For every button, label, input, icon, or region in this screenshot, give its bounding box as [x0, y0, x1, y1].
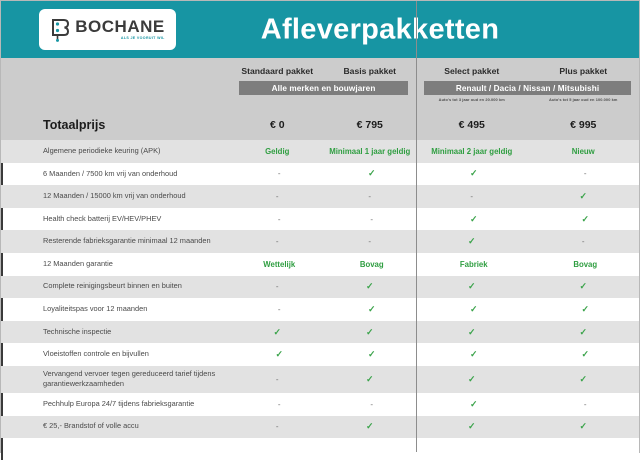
row-values-g-a: -✓	[233, 163, 418, 186]
bochane-logo: BOCHANE ALS JE VOORUIT WIL	[39, 9, 176, 50]
row-cell: -	[528, 237, 640, 246]
package-name-basis: Basis pakket	[324, 66, 417, 76]
package-name-standaard: Standaard pakket	[231, 66, 324, 76]
row-cell: -	[324, 192, 417, 201]
price-plus: € 995	[528, 119, 640, 131]
row-cell: ✓	[530, 304, 640, 315]
group-b-package-names: Select pakket Plus pakket	[416, 66, 639, 76]
row-cell: ✓	[324, 421, 417, 432]
row-values-g-b: ✓-	[418, 393, 640, 416]
row-cell: -	[324, 237, 417, 246]
row-cell: ✓	[418, 399, 530, 410]
row-values-g-b: ✓✓	[416, 416, 639, 439]
row-label: 6 Maanden / 7500 km vrij van onderhoud	[3, 169, 233, 180]
price-select: € 495	[416, 119, 528, 131]
row-cell: Wettelijk	[233, 260, 326, 269]
package-note-plus: Auto's tot 5 jaar oud en 100.000 km	[528, 97, 640, 102]
row-cell: Fabriek	[418, 260, 530, 269]
row-values-g-a: --	[233, 393, 418, 416]
row-values-g-a: --	[233, 208, 418, 231]
row-cell: ✓	[326, 304, 419, 315]
row-label: Vloeistoffen controle en bijvullen	[3, 349, 233, 360]
row-cell: -	[233, 305, 326, 314]
row-values-g-b: ✓-	[416, 230, 639, 253]
row-label: Resterende fabrieksgarantie minimaal 12 …	[1, 236, 231, 247]
row-label: 12 Maanden garantie	[3, 259, 233, 270]
totaalprijs-label: Totaalprijs	[1, 118, 231, 132]
package-note-select: Auto's tot 3 jaar oud en 20.000 km	[416, 97, 528, 102]
table-row: 12 Maanden garantieWettelijkBovagFabriek…	[1, 253, 639, 276]
row-values-g-a: -✓	[231, 416, 416, 439]
row-cell: ✓	[416, 236, 528, 247]
row-values-g-b: FabriekBovag	[418, 253, 640, 276]
row-label: Health check batterij EV/HEV/PHEV	[3, 214, 233, 225]
totaalprijs-row: Totaalprijs € 0 € 795 € 495 € 995	[1, 110, 639, 140]
row-cell: ✓	[326, 349, 419, 360]
table-footer-strip	[1, 438, 639, 460]
table-row: Complete reinigingsbeurt binnen en buite…	[1, 276, 639, 299]
package-name-select: Select pakket	[416, 66, 528, 76]
row-label: Technische inspectie	[1, 327, 231, 338]
row-cell: -	[326, 400, 419, 409]
row-values-g-a: WettelijkBovag	[233, 253, 418, 276]
row-cell: ✓	[416, 374, 528, 385]
row-cell: -	[231, 192, 324, 201]
bochane-mark-icon	[50, 17, 70, 43]
table-row: Health check batterij EV/HEV/PHEV--✓✓	[1, 208, 639, 231]
comparison-table: Algemene periodieke keuring (APK)GeldigM…	[1, 140, 639, 454]
totaalprijs-group-b: € 495 € 995	[416, 119, 639, 131]
row-cell: ✓	[418, 304, 530, 315]
row-values-g-a: --	[231, 185, 416, 208]
table-row: Loyaliteitspas voor 12 maanden-✓✓✓	[1, 298, 639, 321]
row-cell: ✓	[418, 349, 530, 360]
group-b-subnotes: Auto's tot 3 jaar oud en 20.000 km Auto'…	[416, 97, 639, 102]
table-row: € 25,- Brandstof of volle accu-✓✓✓	[1, 416, 639, 439]
table-row: Resterende fabrieksgarantie minimaal 12 …	[1, 230, 639, 253]
row-cell: -	[231, 422, 324, 431]
row-label: € 25,- Brandstof of volle accu	[1, 421, 231, 432]
row-cell: -	[231, 375, 324, 384]
row-values-g-b: -✓	[416, 185, 639, 208]
row-cell: -	[530, 169, 640, 178]
bochane-wordmark: BOCHANE ALS JE VOORUIT WIL	[75, 18, 164, 41]
row-values-g-b: ✓-	[418, 163, 640, 186]
table-row: Algemene periodieke keuring (APK)GeldigM…	[1, 140, 639, 163]
row-values-g-b: ✓✓	[418, 208, 640, 231]
package-name-plus: Plus pakket	[528, 66, 640, 76]
row-cell: -	[231, 282, 324, 291]
row-cell: Bovag	[326, 260, 419, 269]
page-banner: BOCHANE ALS JE VOORUIT WIL Afleverpakket…	[1, 1, 639, 58]
row-values-g-a: ✓✓	[231, 321, 416, 344]
price-basis: € 795	[324, 119, 417, 131]
row-label: Complete reinigingsbeurt binnen en buite…	[1, 281, 231, 292]
row-cell: ✓	[231, 327, 324, 338]
row-label: Pechhulp Europa 24/7 tijdens fabrieksgar…	[3, 399, 233, 410]
row-cell: ✓	[416, 281, 528, 292]
group-a-brandbar: Alle merken en bouwjaren	[239, 81, 408, 95]
row-values-g-b: ✓✓	[418, 298, 640, 321]
afleverpakketten-page: BOCHANE ALS JE VOORUIT WIL Afleverpakket…	[0, 0, 640, 453]
row-cell: ✓	[324, 374, 417, 385]
row-cell: Minimaal 2 jaar geldig	[416, 147, 528, 156]
group-divider	[416, 1, 417, 452]
row-values-g-a: --	[231, 230, 416, 253]
group-b-brandbar: Renault / Dacia / Nissan / Mitsubishi	[424, 81, 631, 95]
row-cell: ✓	[324, 281, 417, 292]
row-cell: ✓	[326, 168, 419, 179]
row-label: Loyaliteitspas voor 12 maanden	[3, 304, 233, 315]
row-cell: Bovag	[530, 260, 640, 269]
table-row: Vervangend vervoer tegen gereduceerd tar…	[1, 366, 639, 393]
bochane-tagline: ALS JE VOORUIT WIL	[121, 37, 165, 41]
row-cell: ✓	[530, 349, 640, 360]
row-cell: ✓	[418, 214, 530, 225]
row-values-g-a: ✓✓	[233, 343, 418, 366]
row-label: 12 Maanden / 15000 km vrij van onderhoud	[1, 191, 231, 202]
row-cell: Geldig	[231, 147, 324, 156]
row-cell: -	[326, 215, 419, 224]
row-values-g-b: ✓✓	[416, 366, 639, 393]
row-cell: ✓	[528, 421, 640, 432]
row-cell: ✓	[528, 374, 640, 385]
table-row: 12 Maanden / 15000 km vrij van onderhoud…	[1, 185, 639, 208]
row-cell: -	[233, 169, 326, 178]
row-values-g-b: ✓✓	[416, 276, 639, 299]
row-values-g-b: ✓✓	[416, 321, 639, 344]
package-header: Standaard pakket Basis pakket Alle merke…	[1, 58, 639, 140]
row-cell: -	[233, 400, 326, 409]
row-cell: -	[231, 237, 324, 246]
row-cell: ✓	[528, 191, 640, 202]
row-values-g-a: -✓	[231, 276, 416, 299]
row-cell: ✓	[416, 421, 528, 432]
row-cell: ✓	[324, 327, 417, 338]
row-label: Algemene periodieke keuring (APK)	[1, 146, 231, 157]
row-cell: ✓	[528, 327, 640, 338]
row-cell: -	[233, 215, 326, 224]
table-row: Vloeistoffen controle en bijvullen✓✓✓✓	[1, 343, 639, 366]
totaalprijs-group-a: € 0 € 795	[231, 119, 416, 131]
table-row: Pechhulp Europa 24/7 tijdens fabrieksgar…	[1, 393, 639, 416]
row-values-g-a: -✓	[233, 298, 418, 321]
row-cell: -	[416, 192, 528, 201]
group-a-package-names: Standaard pakket Basis pakket	[231, 66, 416, 76]
row-label: Vervangend vervoer tegen gereduceerd tar…	[1, 369, 231, 390]
row-values-g-a: -✓	[231, 366, 416, 393]
row-values-g-a: GeldigMinimaal 1 jaar geldig	[231, 140, 416, 163]
table-row: Technische inspectie✓✓✓✓	[1, 321, 639, 344]
row-cell: ✓	[530, 214, 640, 225]
row-cell: ✓	[528, 281, 640, 292]
row-cell: Minimaal 1 jaar geldig	[324, 147, 417, 156]
row-cell: ✓	[416, 327, 528, 338]
row-cell: ✓	[418, 168, 530, 179]
bochane-logo-text: BOCHANE	[75, 18, 164, 35]
row-values-g-b: ✓✓	[418, 343, 640, 366]
price-standaard: € 0	[231, 119, 324, 131]
row-cell: -	[530, 400, 640, 409]
table-rows: Algemene periodieke keuring (APK)GeldigM…	[1, 140, 639, 438]
row-cell: ✓	[233, 349, 326, 360]
row-values-g-b: Minimaal 2 jaar geldigNieuw	[416, 140, 639, 163]
row-cell: Nieuw	[528, 147, 640, 156]
table-row: 6 Maanden / 7500 km vrij van onderhoud-✓…	[1, 163, 639, 186]
